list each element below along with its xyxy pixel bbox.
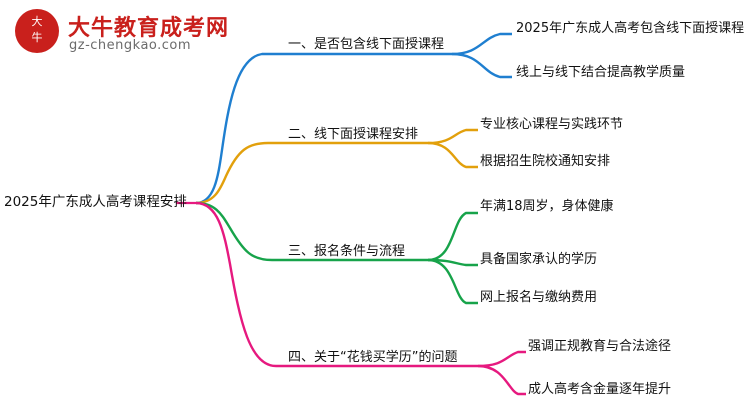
mindmap-root-label: 2025年广东成人高考课程安排 <box>4 196 187 210</box>
leaf-label-4-1: 强调正规教育与合法途径 <box>528 340 671 353</box>
leaf-label-4-2: 成人高考含金量逐年提升 <box>528 383 671 396</box>
branch-label-2: 二、线下面授课程安排 <box>288 128 418 141</box>
leaf-label-3-2: 具备国家承认的学历 <box>480 253 597 266</box>
mindmap-canvas: 大 牛 大牛教育成考网 gz-chengkao.com 2025年广东成人高考课… <box>0 0 750 410</box>
leaf-label-3-3: 网上报名与缴纳费用 <box>480 291 597 304</box>
branch-label-4: 四、关于“花钱买学历”的问题 <box>288 351 457 364</box>
leaf-label-2-2: 根据招生院校通知安排 <box>480 155 610 168</box>
branch-label-3: 三、报名条件与流程 <box>288 245 405 258</box>
leaf-label-1-1: 2025年广东成人高考包含线下面授课程 <box>516 22 744 35</box>
branch-label-1: 一、是否包含线下面授课程 <box>288 38 444 51</box>
leaf-label-1-2: 线上与线下结合提高教学质量 <box>516 66 685 79</box>
leaf-label-2-1: 专业核心课程与实践环节 <box>480 118 623 131</box>
leaf-label-3-1: 年满18周岁，身体健康 <box>480 200 614 213</box>
